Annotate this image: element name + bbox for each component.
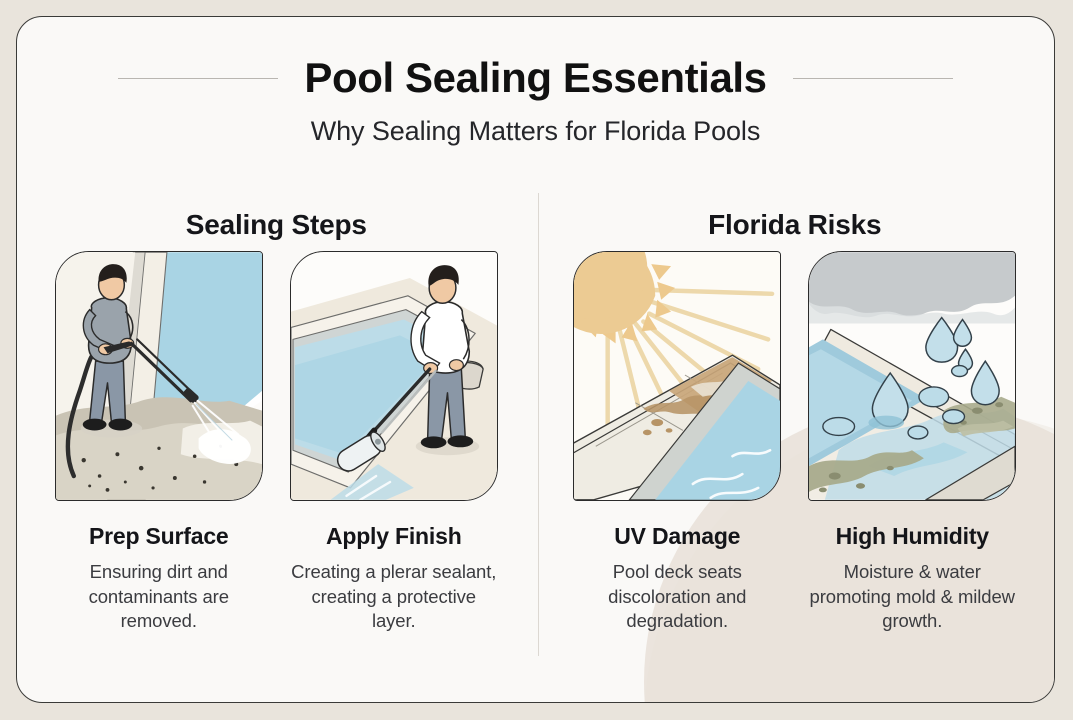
infographic-card: Pool Sealing Essentials Why Sealing Matt… bbox=[16, 16, 1055, 703]
card-description: Ensuring dirt and contaminants are remov… bbox=[55, 560, 263, 634]
card-description: Creating a plerar sealant, creating a pr… bbox=[290, 560, 498, 634]
illustration-uv-damage bbox=[573, 251, 781, 501]
title-row: Pool Sealing Essentials bbox=[17, 57, 1054, 99]
title-rule-right bbox=[793, 78, 953, 79]
page-subtitle: Why Sealing Matters for Florida Pools bbox=[17, 116, 1054, 147]
illustration-roller-sealant bbox=[290, 251, 498, 501]
florida-risks-group: UV Damage Pool deck seats discoloration … bbox=[536, 251, 1055, 634]
header: Pool Sealing Essentials Why Sealing Matt… bbox=[17, 17, 1054, 147]
panel-columns: Prep Surface Ensuring dirt and contamina… bbox=[17, 251, 1054, 634]
card-apply-finish: Apply Finish Creating a plerar sealant, … bbox=[290, 251, 498, 634]
card-title: Prep Surface bbox=[55, 523, 263, 550]
sealing-steps-group: Prep Surface Ensuring dirt and contamina… bbox=[17, 251, 536, 634]
section-heading-florida-risks: Florida Risks bbox=[536, 209, 1055, 241]
page-title: Pool Sealing Essentials bbox=[304, 57, 766, 99]
card-title: UV Damage bbox=[573, 523, 781, 550]
card-description: Moisture & water promoting mold & mildew… bbox=[808, 560, 1016, 634]
infographic-root: Pool Sealing Essentials Why Sealing Matt… bbox=[0, 0, 1073, 720]
section-headings: Sealing Steps Florida Risks bbox=[17, 209, 1054, 241]
title-rule-left bbox=[118, 78, 278, 79]
card-prep-surface: Prep Surface Ensuring dirt and contamina… bbox=[55, 251, 263, 634]
section-heading-sealing-steps: Sealing Steps bbox=[17, 209, 536, 241]
illustration-high-humidity bbox=[808, 251, 1016, 501]
card-uv-damage: UV Damage Pool deck seats discoloration … bbox=[573, 251, 781, 634]
card-high-humidity: High Humidity Moisture & water promoting… bbox=[808, 251, 1016, 634]
card-description: Pool deck seats discoloration and degrad… bbox=[573, 560, 781, 634]
card-title: Apply Finish bbox=[290, 523, 498, 550]
illustration-pressure-washing bbox=[55, 251, 263, 501]
card-title: High Humidity bbox=[808, 523, 1016, 550]
